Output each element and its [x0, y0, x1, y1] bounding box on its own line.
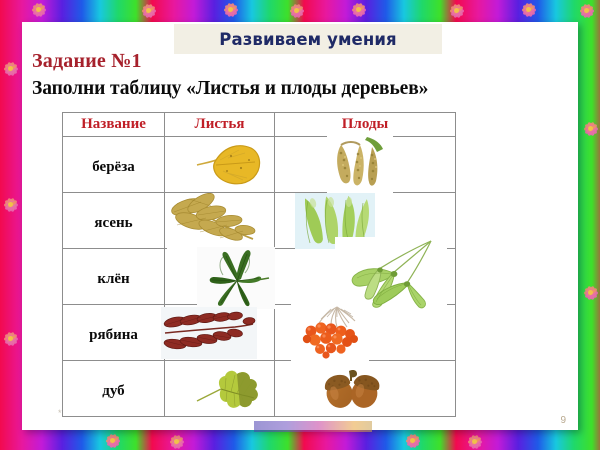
flower-decoration-icon [2, 196, 19, 213]
fruit-image-cell[interactable] [275, 361, 456, 417]
tree-name-label: рябина [63, 327, 164, 344]
flower-decoration-icon [404, 432, 421, 449]
flower-decoration-icon [288, 2, 305, 19]
leaf-fruit-table: Название Листья Плоды берёза [62, 112, 456, 417]
tree-name-cell: рябина [63, 305, 165, 361]
banner-title-text: Развиваем умения [219, 30, 396, 49]
tree-name-cell: дуб [63, 361, 165, 417]
flower-decoration-icon [448, 2, 465, 19]
tree-name-label: дуб [63, 383, 164, 400]
leaf-image-cell[interactable] [165, 193, 275, 249]
column-header-leaf: Листья [165, 113, 275, 137]
table-row: клён [63, 249, 456, 305]
tree-name-label: клён [63, 271, 164, 288]
flower-decoration-icon [140, 2, 157, 19]
tree-name-cell: берёза [63, 137, 165, 193]
ash-leaf-icon [165, 193, 274, 248]
table-header-row: Название Листья Плоды [63, 113, 456, 137]
tree-name-cell: ясень [63, 193, 165, 249]
fruit-image-cell[interactable] [275, 137, 456, 193]
flower-decoration-icon [466, 433, 483, 450]
flower-decoration-icon [104, 432, 121, 449]
watermark [254, 421, 372, 432]
tree-name-label: ясень [63, 215, 164, 232]
table-row: рябина [63, 305, 456, 361]
leaf-image-cell[interactable] [165, 361, 275, 417]
task-heading: Задание №1 [32, 50, 142, 73]
maple-leaf-icon [165, 249, 274, 304]
rowan-leaf-icon [165, 305, 274, 360]
tree-name-cell: клён [63, 249, 165, 305]
flower-decoration-icon [168, 433, 185, 450]
flower-decoration-icon [578, 2, 595, 19]
slide-frame: Развиваем умения Задание №1 Заполни табл… [0, 0, 600, 450]
fruit-image-cell[interactable] [275, 249, 456, 305]
oak-leaf-icon [165, 361, 274, 416]
leaf-image-cell[interactable] [165, 305, 275, 361]
flower-decoration-icon [350, 1, 367, 18]
flower-decoration-icon [30, 1, 47, 18]
birch-catkin-icon [275, 137, 455, 192]
maple-samara-icon [275, 249, 455, 304]
flower-decoration-icon [222, 1, 239, 18]
fruit-image-cell[interactable] [275, 305, 456, 361]
flower-decoration-icon [582, 284, 599, 301]
table-row: берёза [63, 137, 456, 193]
footer-mark: * [58, 408, 62, 418]
column-header-name: Название [63, 113, 165, 137]
flower-decoration-icon [520, 1, 537, 18]
rowan-berries-icon [275, 305, 455, 360]
flower-decoration-icon [2, 330, 19, 347]
birch-leaf-icon [165, 137, 274, 192]
leaf-image-cell[interactable] [165, 137, 275, 193]
page-number: 9 [560, 415, 566, 426]
task-instruction: Заполни таблицу «Листья и плоды деревьев… [32, 78, 428, 100]
slide-page: Развиваем умения Задание №1 Заполни табл… [22, 22, 578, 430]
flower-decoration-icon [582, 120, 599, 137]
acorn-icon [275, 361, 455, 416]
tree-name-label: берёза [63, 159, 164, 176]
leaf-image-cell[interactable] [165, 249, 275, 305]
table-row: дуб [63, 361, 456, 417]
column-header-fruit: Плоды [275, 113, 456, 137]
flower-decoration-icon [2, 60, 19, 77]
title-banner: Развиваем умения [174, 24, 442, 54]
